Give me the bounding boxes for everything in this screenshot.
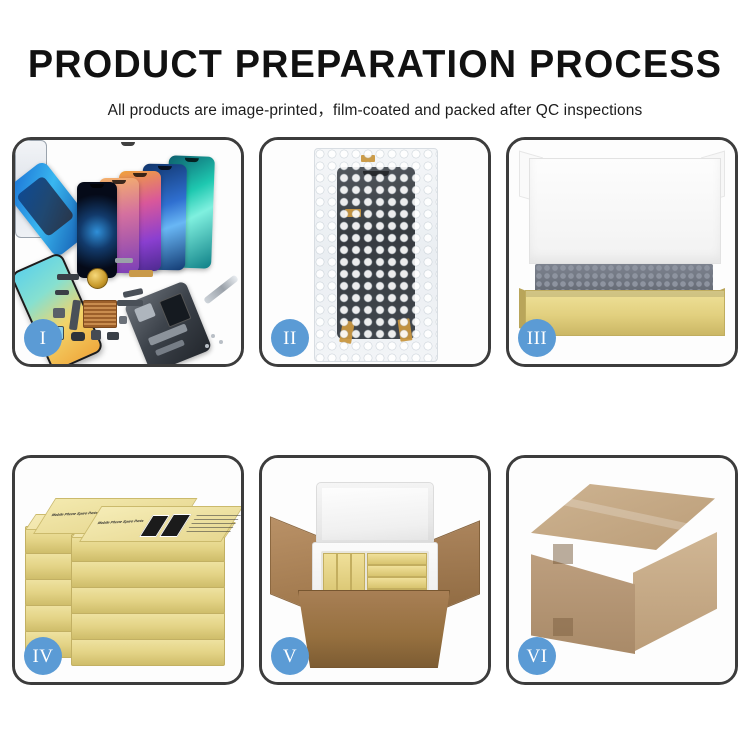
packed-box <box>367 565 427 577</box>
flex-cable-icon <box>117 300 143 306</box>
carton-tape-patch <box>553 618 573 636</box>
box-stack-icon: Mobile Phone Spare Parts Mobile Phone Sp… <box>25 480 237 670</box>
retail-box-front <box>71 586 225 614</box>
box-label-text: Mobile Phone Spare Parts <box>97 519 145 525</box>
screw-icon <box>219 340 223 344</box>
part-icon <box>71 332 85 341</box>
coil-component-icon <box>87 268 108 289</box>
screw-icon <box>205 344 209 348</box>
screw-icon <box>211 334 215 338</box>
process-step-grid: I II <box>12 137 738 687</box>
part-icon <box>53 308 65 318</box>
part-icon <box>129 270 153 277</box>
spec-line <box>191 523 236 524</box>
part-icon <box>55 290 69 295</box>
carton-front-face <box>531 538 635 654</box>
step-badge-4: IV <box>24 637 62 675</box>
step-panel-5[interactable]: V <box>259 455 491 685</box>
product-preparation-infographic: PRODUCT PREPARATION PROCESS All products… <box>0 0 750 750</box>
page-subtitle: All products are image-printed，film-coat… <box>0 98 750 120</box>
step-badge-5: V <box>271 637 309 675</box>
retail-box-front <box>71 638 225 666</box>
page-title: PRODUCT PREPARATION PROCESS <box>11 45 739 84</box>
carton-tape-patch <box>553 544 573 564</box>
carton-body-icon <box>298 590 450 668</box>
step-panel-6[interactable]: VI <box>506 455 738 685</box>
notch-icon <box>133 173 147 177</box>
step-panel-4[interactable]: Mobile Phone Spare Parts Mobile Phone Sp… <box>12 455 244 685</box>
phone-black-burst-icon <box>77 182 117 278</box>
notch-icon <box>121 142 135 146</box>
notch-icon <box>158 166 172 170</box>
header: PRODUCT PREPARATION PROCESS All products… <box>0 0 750 120</box>
part-icon <box>123 288 144 298</box>
spec-line <box>194 519 239 520</box>
step-panel-2[interactable]: II <box>259 137 491 367</box>
packed-box <box>367 577 427 589</box>
part-icon <box>91 330 101 340</box>
box-base-icon <box>525 290 725 336</box>
spec-line <box>196 515 241 516</box>
retail-box-printed-face: Mobile Phone Spare Parts <box>79 506 241 542</box>
carton-side-face <box>633 532 717 652</box>
part-icon <box>115 258 133 263</box>
notch-icon <box>185 158 199 162</box>
notch-icon <box>90 184 104 188</box>
step-panel-3[interactable]: III <box>506 137 738 367</box>
box-label-text: Mobile Phone Spare Parts <box>51 511 99 517</box>
packed-box <box>367 553 427 565</box>
step-badge-2: II <box>271 319 309 357</box>
foam-cooler-lid-icon <box>316 482 434 546</box>
part-icon <box>57 274 79 280</box>
step-badge-6: VI <box>518 637 556 675</box>
part-icon <box>107 332 119 340</box>
part-icon <box>119 316 127 324</box>
chip-grid-component-icon <box>83 300 117 328</box>
spec-line <box>186 531 231 532</box>
spec-line <box>189 527 234 528</box>
screwdriver-icon <box>203 274 239 304</box>
bubble-wrap-bag-icon <box>314 148 438 362</box>
retail-box-front <box>71 560 225 588</box>
box-lid-icon <box>529 158 721 264</box>
step-badge-1: I <box>24 319 62 357</box>
step-badge-3: III <box>518 319 556 357</box>
bubble-texture <box>315 149 437 361</box>
retail-box-front <box>71 612 225 640</box>
step-panel-1[interactable]: I <box>12 137 244 367</box>
